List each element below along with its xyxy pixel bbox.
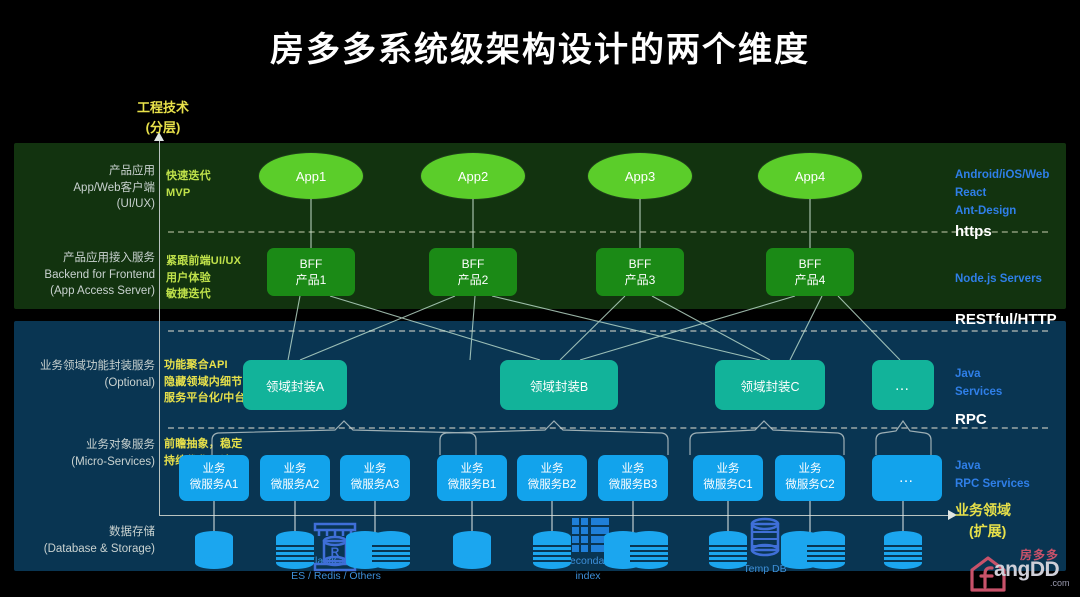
node-microservice-more[interactable]: … — [872, 455, 942, 501]
node-microservice-b2-line1: 业务 — [541, 462, 564, 478]
row-label-domain-line1: 业务领域功能封装服务 — [3, 358, 155, 375]
note-apps-line2: MVP — [166, 185, 211, 202]
tech-stack-bff-line1: Node.js Servers — [955, 271, 1042, 289]
node-microservice-b1-line1: 业务 — [461, 462, 484, 478]
node-microservice-more-label: … — [899, 468, 916, 488]
note-bff-line3: 敏捷迭代 — [166, 286, 241, 303]
row-label-apps: 产品应用 App/Web客户端 (UI/UX) — [10, 163, 155, 213]
node-bff-1-line1: BFF — [300, 256, 323, 272]
tech-stack-apps-line3: Ant-Design — [955, 203, 1049, 221]
node-microservice-c1-line1: 业务 — [717, 462, 740, 478]
row-label-bff-line1: 产品应用接入服务 — [5, 250, 155, 267]
page-title: 房多多系统级架构设计的两个维度 — [0, 22, 1080, 71]
divider-domain-microservices — [168, 427, 1048, 429]
note-apps: 快速迭代 MVP — [166, 168, 211, 201]
node-microservice-b1[interactable]: 业务 微服务B1 — [437, 455, 507, 501]
node-microservice-a1-line1: 业务 — [203, 462, 226, 478]
diagram-canvas: 房多多系统级架构设计的两个维度 工程技术 (分层) 业务领域 (扩展) 产品应用… — [0, 0, 1080, 597]
row-label-bff: 产品应用接入服务 Backend for Frontend (App Acces… — [5, 250, 155, 300]
node-microservice-c1-line2: 微服务C1 — [703, 478, 752, 494]
node-bff-3-line2: 产品3 — [625, 272, 656, 288]
node-microservice-b1-line2: 微服务B1 — [448, 478, 497, 494]
note-microservices-line1: 前瞻抽象，稳定 — [164, 436, 242, 453]
vertical-axis-line — [159, 138, 160, 516]
row-label-storage: 数据存储 (Database & Storage) — [3, 524, 155, 557]
row-label-apps-line2: App/Web客户端 — [10, 180, 155, 197]
node-app-4[interactable]: App4 — [758, 153, 862, 199]
storage-label-secondary-index: Secondary index — [518, 554, 658, 583]
node-domain-b[interactable]: 领域封装B — [500, 360, 618, 410]
node-bff-1[interactable]: BFF 产品1 — [267, 248, 355, 296]
tech-stack-apps-line1: Android/iOS/Web — [955, 167, 1049, 185]
node-app-2[interactable]: App2 — [421, 153, 525, 199]
node-bff-2[interactable]: BFF 产品2 — [429, 248, 517, 296]
node-microservice-a3-line1: 业务 — [364, 462, 387, 478]
tech-stack-microservices-line1: Java — [955, 458, 1030, 476]
note-bff-line1: 紧跟前端UI/UX — [166, 253, 241, 270]
row-label-apps-line3: (UI/UX) — [10, 196, 155, 213]
vertical-axis-label: 工程技术 (分层) — [108, 98, 218, 138]
node-microservice-a1[interactable]: 业务 微服务A1 — [179, 455, 249, 501]
horizontal-axis-label-line2: (扩展) — [955, 521, 1075, 542]
tech-stack-domain: Java Services — [955, 366, 1002, 402]
node-microservice-a3-line2: 微服务A3 — [351, 478, 400, 494]
storage-label-temp-db-line1: Temp DB — [695, 562, 835, 577]
fangdd-logo-suffix: .com — [1050, 578, 1070, 588]
tech-stack-microservices: Java RPC Services — [955, 458, 1030, 494]
node-microservice-c1[interactable]: 业务 微服务C1 — [693, 455, 763, 501]
node-microservice-b3[interactable]: 业务 微服务B3 — [598, 455, 668, 501]
node-microservice-a2-line1: 业务 — [284, 462, 307, 478]
node-domain-a[interactable]: 领域封装A — [243, 360, 347, 410]
node-app-1[interactable]: App1 — [259, 153, 363, 199]
tech-stack-microservices-line2: RPC Services — [955, 476, 1030, 494]
node-bff-3-line1: BFF — [629, 256, 652, 272]
node-microservice-b2-line2: 微服务B2 — [528, 478, 577, 494]
tech-stack-bff: Node.js Servers — [955, 271, 1042, 289]
node-bff-1-line2: 产品1 — [296, 272, 327, 288]
storage-label-secondary-index-line1: Secondary — [518, 554, 658, 569]
node-bff-4-line2: 产品4 — [795, 272, 826, 288]
node-microservice-c2-line1: 业务 — [799, 462, 822, 478]
vertical-axis-label-line2: (分层) — [108, 118, 218, 138]
node-bff-4-line1: BFF — [799, 256, 822, 272]
row-label-domain: 业务领域功能封装服务 (Optional) — [3, 358, 155, 391]
horizontal-axis-label: 业务领域 (扩展) — [955, 500, 1075, 542]
protocol-label-restful: RESTful/HTTP — [955, 311, 1057, 328]
tech-stack-domain-line2: Services — [955, 384, 1002, 402]
storage-label-elasticache-line2: ES / Redis / Others — [266, 569, 406, 584]
horizontal-axis-label-line1: 业务领域 — [955, 500, 1075, 521]
node-microservice-a2[interactable]: 业务 微服务A2 — [260, 455, 330, 501]
row-label-microservices: 业务对象服务 (Micro-Services) — [3, 437, 155, 470]
node-microservice-b3-line1: 业务 — [622, 462, 645, 478]
fangdd-logo: 房多多 angDD .com — [968, 546, 1076, 592]
node-app-3[interactable]: App3 — [588, 153, 692, 199]
row-label-bff-line3: (App Access Server) — [5, 283, 155, 300]
protocol-label-rpc: RPC — [955, 411, 987, 428]
node-bff-3[interactable]: BFF 产品3 — [596, 248, 684, 296]
tech-stack-apps: Android/iOS/Web React Ant-Design — [955, 167, 1049, 220]
node-microservice-b3-line2: 微服务B3 — [609, 478, 658, 494]
divider-apps-bff — [168, 231, 1048, 233]
vertical-axis-label-line1: 工程技术 — [108, 98, 218, 118]
row-label-storage-line1: 数据存储 — [3, 524, 155, 541]
tech-stack-apps-line2: React — [955, 185, 1049, 203]
node-microservice-c2[interactable]: 业务 微服务C2 — [775, 455, 845, 501]
storage-label-temp-db: Temp DB — [695, 562, 835, 577]
storage-label-elasticache: ElastiCache ES / Redis / Others — [266, 554, 406, 583]
row-label-microservices-line2: (Micro-Services) — [3, 454, 155, 471]
note-bff: 紧跟前端UI/UX 用户体验 敏捷迭代 — [166, 253, 241, 303]
tech-stack-domain-line1: Java — [955, 366, 1002, 384]
protocol-label-https: https — [955, 223, 992, 240]
node-microservice-c2-line2: 微服务C2 — [785, 478, 834, 494]
node-domain-c[interactable]: 领域封装C — [715, 360, 825, 410]
node-bff-2-line1: BFF — [462, 256, 485, 272]
divider-bff-domain — [168, 330, 1048, 332]
node-domain-more[interactable]: … — [872, 360, 934, 410]
note-bff-line2: 用户体验 — [166, 270, 241, 287]
row-label-domain-line2: (Optional) — [3, 375, 155, 392]
row-label-microservices-line1: 业务对象服务 — [3, 437, 155, 454]
node-microservice-a3[interactable]: 业务 微服务A3 — [340, 455, 410, 501]
storage-label-elasticache-line1: ElastiCache — [266, 554, 406, 569]
note-apps-line1: 快速迭代 — [166, 168, 211, 185]
row-label-apps-line1: 产品应用 — [10, 163, 155, 180]
node-microservice-a2-line2: 微服务A2 — [271, 478, 320, 494]
node-microservice-a1-line2: 微服务A1 — [190, 478, 239, 494]
node-microservice-b2[interactable]: 业务 微服务B2 — [517, 455, 587, 501]
storage-label-secondary-index-line2: index — [518, 569, 658, 584]
node-bff-4[interactable]: BFF 产品4 — [766, 248, 854, 296]
node-bff-2-line2: 产品2 — [458, 272, 489, 288]
row-label-bff-line2: Backend for Frontend — [5, 267, 155, 284]
row-label-storage-line2: (Database & Storage) — [3, 541, 155, 558]
horizontal-axis-line — [159, 515, 949, 516]
